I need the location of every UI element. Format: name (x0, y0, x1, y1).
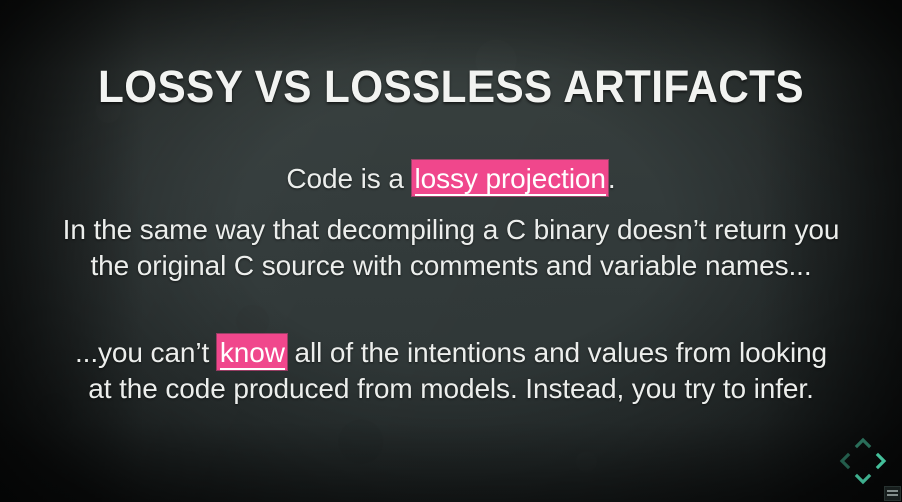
paragraph-1-text-before: Code is a (286, 163, 411, 194)
highlight-lossy-projection-label: lossy projection (415, 163, 606, 196)
slide-canvas: Lossy vs Lossless Artifacts Code is a lo… (0, 0, 902, 502)
corner-watermark-badge (884, 486, 901, 501)
paragraph-infer-conclusion: ...you can’t know all of the intentions … (60, 335, 842, 407)
page-title: Lossy vs Lossless Artifacts (27, 64, 875, 109)
highlight-know: know (217, 334, 287, 370)
slide-content: Lossy vs Lossless Artifacts Code is a lo… (0, 0, 902, 502)
paragraph-1-text-after: . (608, 163, 616, 194)
highlight-know-label: know (220, 337, 285, 370)
paragraph-3-text-before: ...you can’t (75, 337, 217, 368)
diamond-chevron-logo-icon (836, 434, 890, 488)
paragraph-decompiling-analogy: In the same way that decompiling a C bin… (60, 212, 842, 284)
paragraph-2-text: In the same way that decompiling a C bin… (63, 214, 840, 281)
highlight-lossy-projection: lossy projection (412, 160, 608, 196)
paragraph-lossy-projection: Code is a lossy projection. (60, 161, 842, 197)
